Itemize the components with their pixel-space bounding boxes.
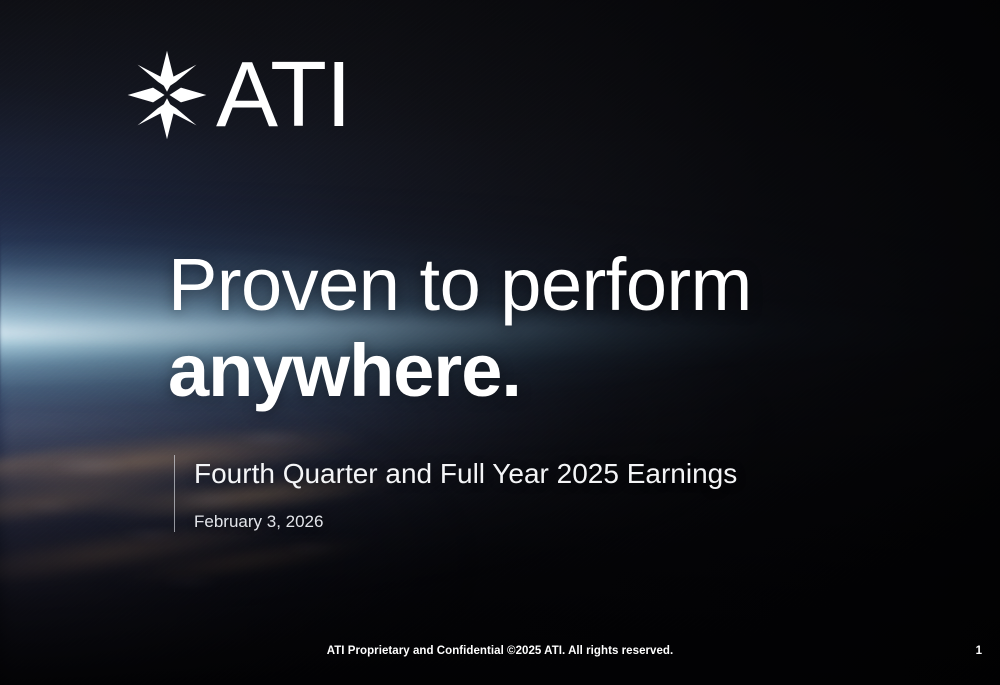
subtitle-text-group: Fourth Quarter and Full Year 2025 Earnin… (175, 455, 737, 532)
title-slide: ATI Proven to perform anywhere. Fourth Q… (0, 0, 1000, 685)
subtitle-block: Fourth Quarter and Full Year 2025 Earnin… (174, 455, 737, 532)
ati-wordmark: ATI (216, 55, 351, 135)
headline-line-2: anywhere. (168, 334, 868, 408)
headline: Proven to perform anywhere. (168, 248, 868, 408)
presentation-date: February 3, 2026 (194, 512, 737, 532)
ati-logo-lockup: ATI (126, 48, 351, 142)
presentation-title: Fourth Quarter and Full Year 2025 Earnin… (194, 456, 737, 492)
ati-eight-point-star-logo-icon (126, 48, 208, 142)
slide-page-number: 1 (976, 645, 982, 657)
footer-legal-notice: ATI Proprietary and Confidential ©2025 A… (0, 645, 1000, 657)
slide-content: ATI Proven to perform anywhere. Fourth Q… (0, 0, 1000, 685)
headline-line-1: Proven to perform (168, 248, 868, 322)
